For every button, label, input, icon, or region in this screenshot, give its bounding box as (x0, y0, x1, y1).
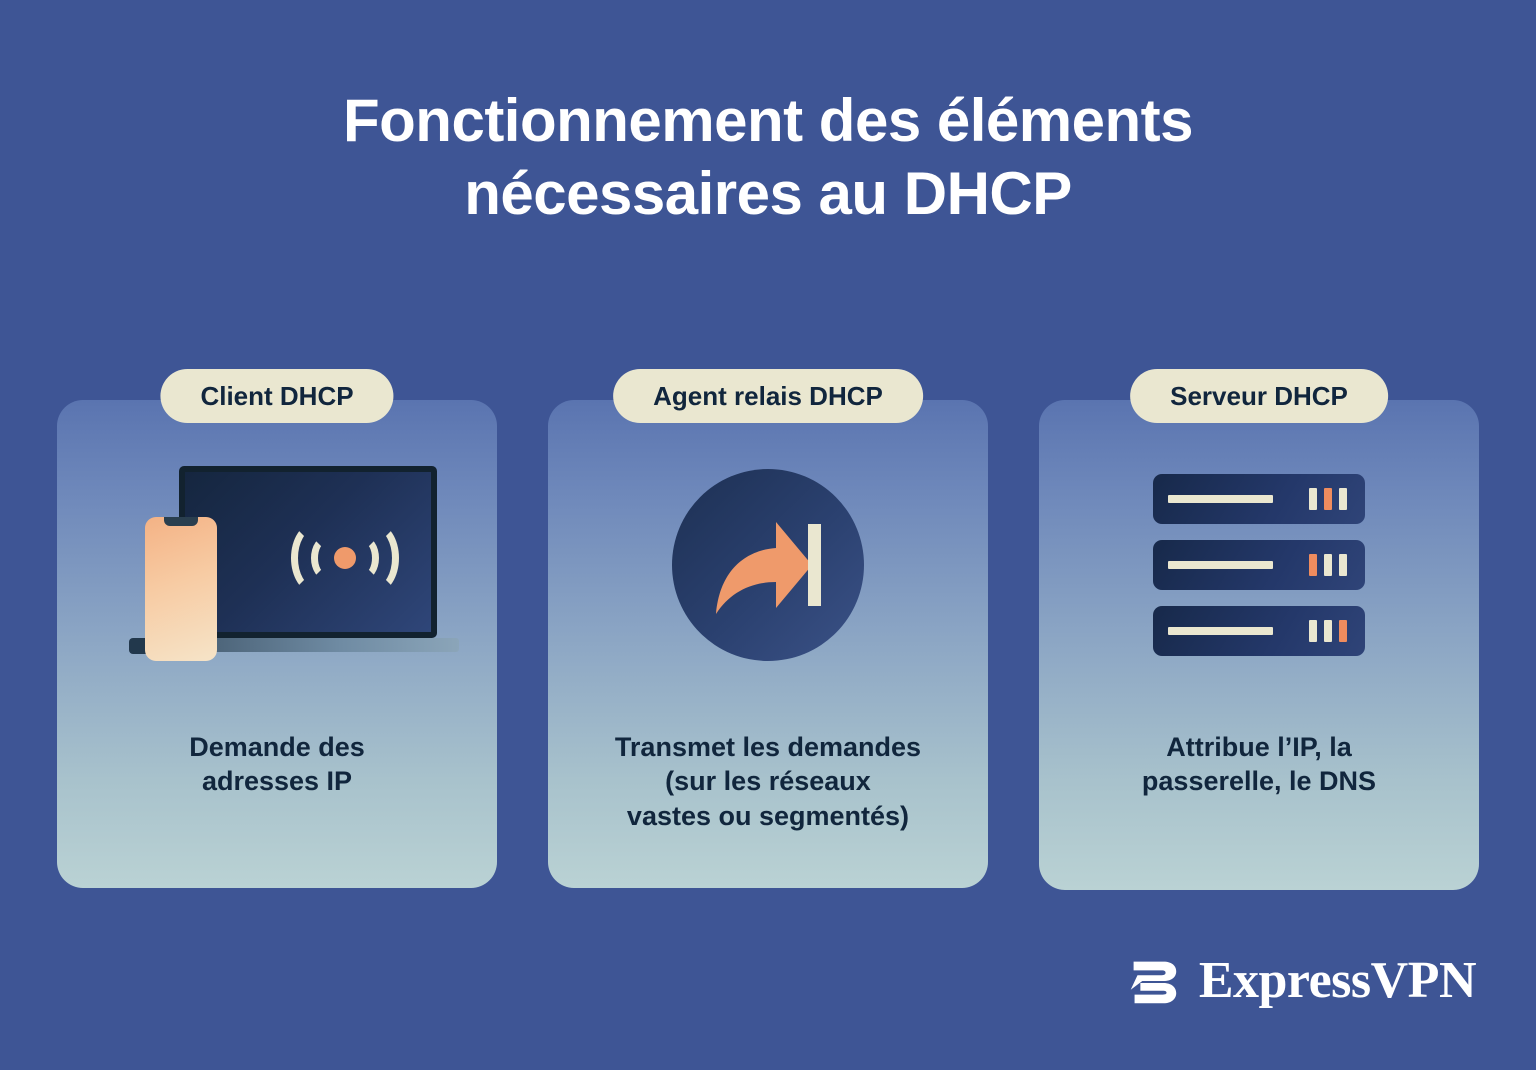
server-led-active (1339, 620, 1347, 642)
server-label-bar (1168, 627, 1273, 635)
card-caption-client: Demande des adresses IP (167, 730, 387, 799)
wifi-arc-right-outer (353, 523, 399, 593)
server-stack-icon (1153, 474, 1365, 656)
expressvpn-wordmark: ExpressVPN (1199, 955, 1476, 1007)
card-caption-relay: Transmet les demandes (sur les réseaux v… (593, 730, 943, 833)
forward-arrow-icon (708, 510, 828, 620)
phone-notch (164, 517, 198, 526)
laptop-icon (179, 466, 437, 638)
server-row (1153, 474, 1365, 524)
server-led-active (1309, 554, 1317, 576)
server-led-group (1309, 488, 1347, 510)
laptop-phone-wifi-illustration (117, 466, 437, 671)
smartphone-icon (145, 517, 217, 661)
server-illustration (1039, 400, 1479, 730)
server-led-active (1324, 488, 1332, 510)
card-relay-agent-dhcp: Agent relais DHCP Transmet les demandes … (548, 400, 988, 888)
expressvpn-e-logo (1121, 950, 1183, 1012)
server-row (1153, 606, 1365, 656)
server-led (1309, 620, 1317, 642)
wifi-signal-icon (285, 512, 405, 604)
card-caption-server: Attribue l’IP, la passerelle, le DNS (1120, 730, 1398, 799)
relay-illustration (548, 400, 988, 730)
client-illustration (57, 400, 497, 730)
server-label-bar (1168, 495, 1273, 503)
server-led-group (1309, 620, 1347, 642)
server-row (1153, 540, 1365, 590)
server-led (1324, 620, 1332, 642)
server-led-group (1309, 554, 1347, 576)
server-led (1324, 554, 1332, 576)
page-title: Fonctionnement des éléments nécessaires … (0, 84, 1536, 230)
card-server-dhcp: Serveur DHCP (1039, 400, 1479, 890)
server-label-bar (1168, 561, 1273, 569)
cards-row: Client DHCP Demand (57, 400, 1479, 890)
server-led (1339, 488, 1347, 510)
server-led (1309, 488, 1317, 510)
expressvpn-logo: ExpressVPN (1121, 950, 1476, 1012)
forward-arrow-circle-icon (672, 469, 864, 661)
card-client-dhcp: Client DHCP Demand (57, 400, 497, 888)
server-led (1339, 554, 1347, 576)
